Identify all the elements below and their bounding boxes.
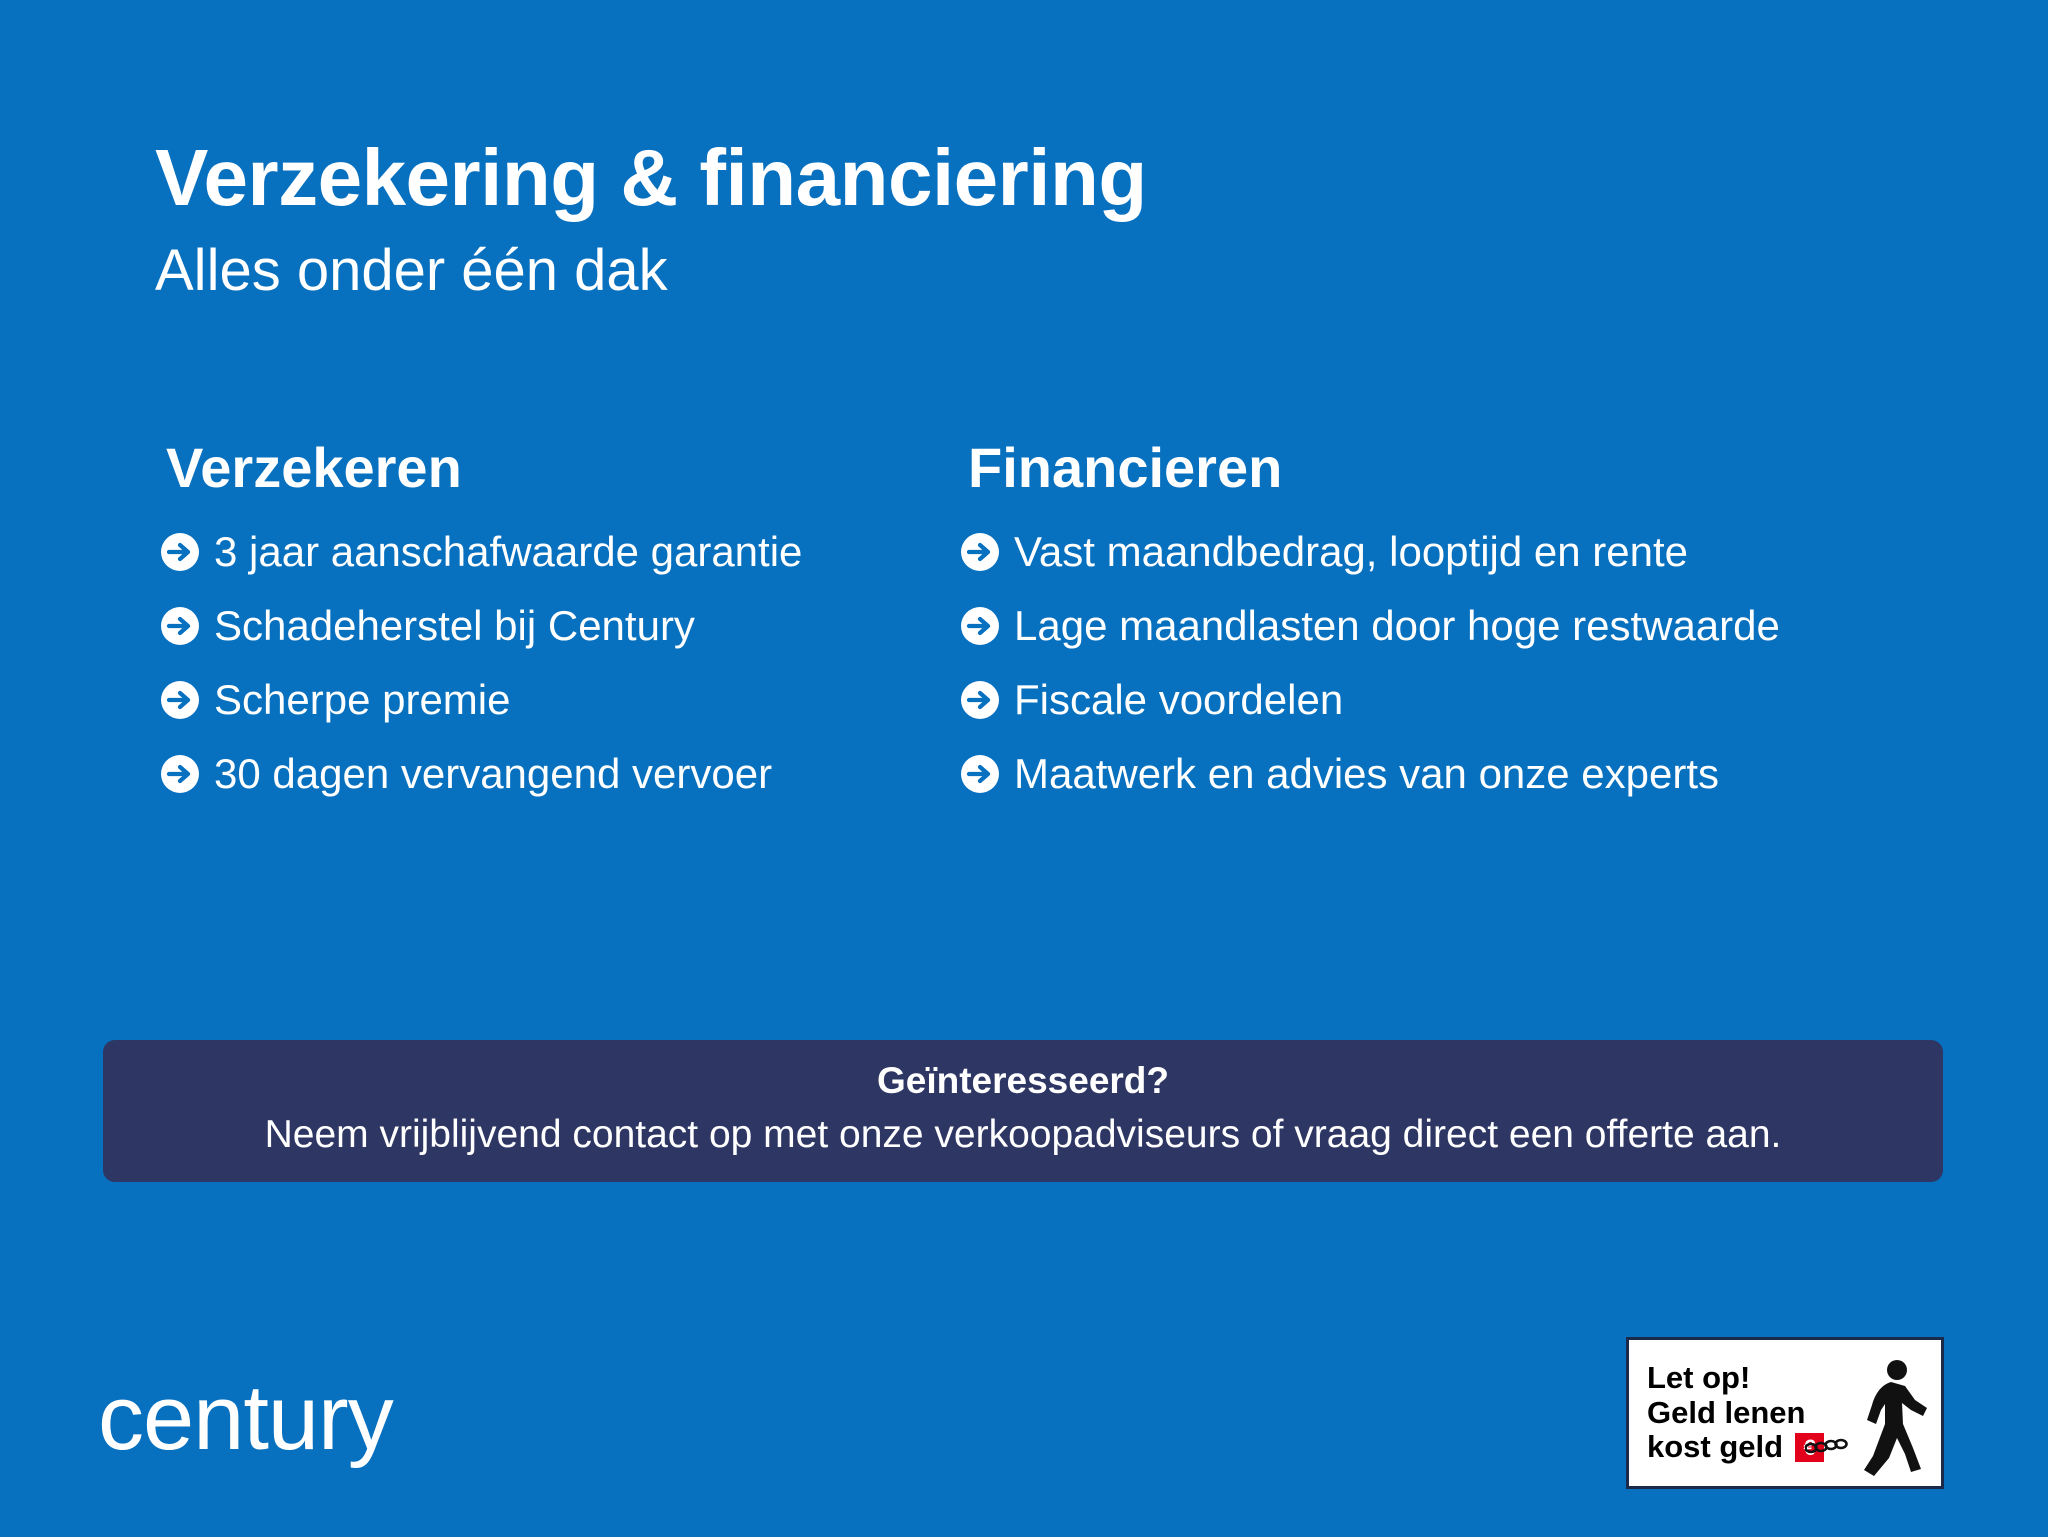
arrow-right-circle-icon xyxy=(160,680,200,720)
list-item: Maatwerk en advies van onze experts xyxy=(960,752,2048,796)
cta-banner[interactable]: Geïnteresseerd? Neem vrijblijvend contac… xyxy=(103,1040,1943,1182)
list-item-label: Lage maandlasten door hoge restwaarde xyxy=(1014,604,1780,648)
feature-list-verzekeren: 3 jaar aanschafwaarde garantie Schadeher… xyxy=(160,530,900,796)
column-heading-financieren: Financieren xyxy=(960,440,2048,496)
feature-list-financieren: Vast maandbedrag, looptijd en rente Lage… xyxy=(960,530,2048,796)
credit-warning-line-3: kost geld xyxy=(1647,1430,1783,1465)
credit-warning-text: Let op! Geld lenen kost geld € xyxy=(1647,1361,1824,1465)
walking-person-icon xyxy=(1845,1358,1931,1478)
cta-body: Neem vrijblijvend contact op met onze ve… xyxy=(265,1115,1782,1154)
arrow-right-circle-icon xyxy=(160,754,200,794)
arrow-right-circle-icon xyxy=(960,532,1000,572)
credit-warning-line-3-row: kost geld € xyxy=(1647,1430,1824,1465)
slide-canvas: Verzekering & financiering Alles onder é… xyxy=(0,0,2048,1537)
cta-heading: Geïnteresseerd? xyxy=(877,1062,1169,1099)
list-item: Scherpe premie xyxy=(160,678,900,722)
arrow-right-circle-icon xyxy=(960,606,1000,646)
arrow-right-circle-icon xyxy=(960,754,1000,794)
list-item: 30 dagen vervangend vervoer xyxy=(160,752,900,796)
header: Verzekering & financiering Alles onder é… xyxy=(155,138,1855,300)
list-item-label: Maatwerk en advies van onze experts xyxy=(1014,752,1719,796)
list-item-label: Vast maandbedrag, looptijd en rente xyxy=(1014,530,1688,574)
column-verzekeren: Verzekeren 3 jaar aanschafwaarde garanti… xyxy=(0,440,900,796)
list-item: Fiscale voordelen xyxy=(960,678,2048,722)
list-item: Vast maandbedrag, looptijd en rente xyxy=(960,530,2048,574)
column-financieren: Financieren Vast maandbedrag, looptijd e… xyxy=(900,440,2048,796)
list-item: 3 jaar aanschafwaarde garantie xyxy=(160,530,900,574)
column-heading-verzekeren: Verzekeren xyxy=(160,440,900,496)
list-item: Lage maandlasten door hoge restwaarde xyxy=(960,604,2048,648)
century-logo: century xyxy=(98,1372,393,1464)
list-item-label: 30 dagen vervangend vervoer xyxy=(214,752,772,796)
arrow-right-circle-icon xyxy=(160,606,200,646)
credit-warning-box: Let op! Geld lenen kost geld € xyxy=(1626,1337,1944,1489)
list-item: Schadeherstel bij Century xyxy=(160,604,900,648)
credit-warning-line-1: Let op! xyxy=(1647,1361,1824,1396)
page-subtitle: Alles onder één dak xyxy=(155,242,1855,300)
list-item-label: 3 jaar aanschafwaarde garantie xyxy=(214,530,802,574)
list-item-label: Fiscale voordelen xyxy=(1014,678,1343,722)
arrow-right-circle-icon xyxy=(960,680,1000,720)
list-item-label: Scherpe premie xyxy=(214,678,510,722)
page-title: Verzekering & financiering xyxy=(155,138,1855,218)
list-item-label: Schadeherstel bij Century xyxy=(214,604,695,648)
arrow-right-circle-icon xyxy=(160,532,200,572)
feature-columns: Verzekeren 3 jaar aanschafwaarde garanti… xyxy=(0,440,2048,796)
credit-warning-line-2: Geld lenen xyxy=(1647,1396,1824,1431)
